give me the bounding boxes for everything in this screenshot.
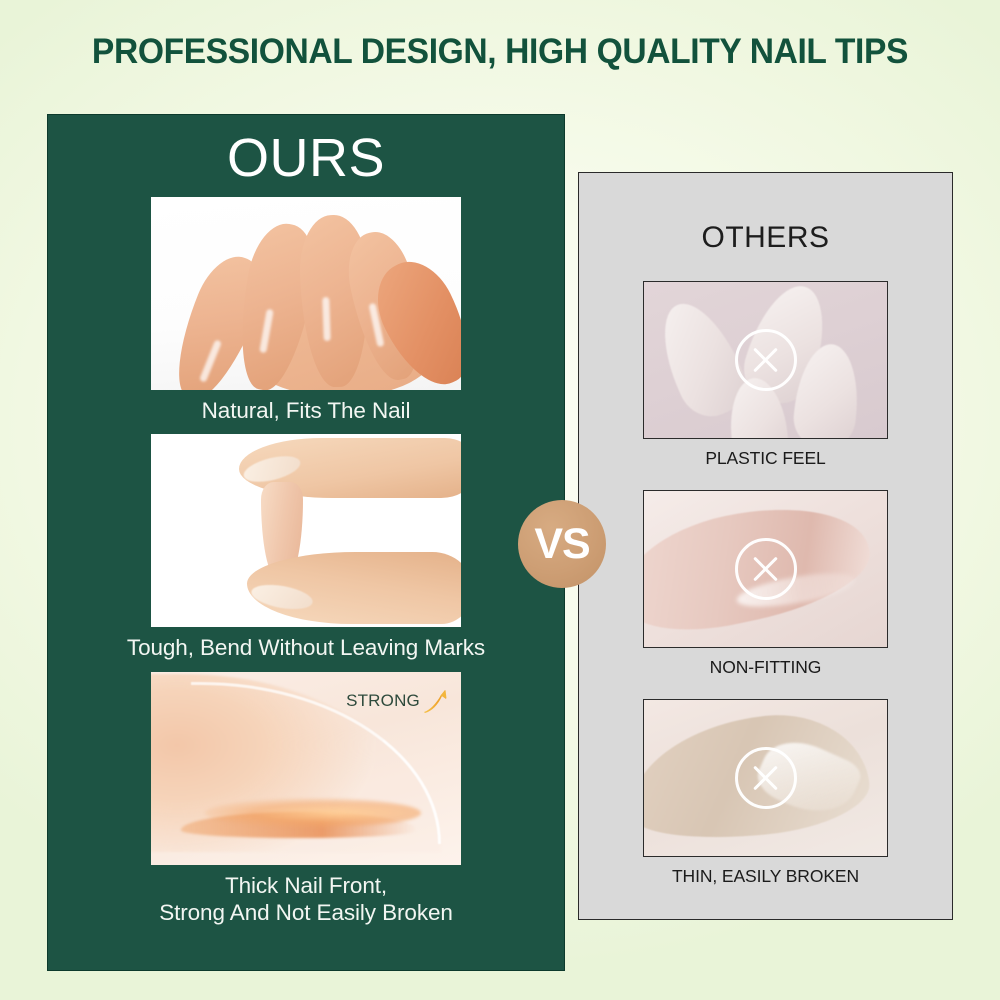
others-image-plastic-feel xyxy=(643,281,888,439)
others-item-list: PLASTIC FEEL NON-FITTING THIN, xyxy=(579,281,952,887)
ours-list-item: STRONG Thick N xyxy=(48,672,564,927)
ours-caption: Thick Nail Front, Strong And Not Easily … xyxy=(48,872,564,927)
ours-caption: Natural, Fits The Nail xyxy=(48,397,564,424)
x-circle-icon xyxy=(735,329,797,391)
others-image-non-fitting xyxy=(643,490,888,648)
ours-caption: Tough, Bend Without Leaving Marks xyxy=(48,634,564,661)
ours-heading: OURS xyxy=(48,127,564,189)
ours-list-item: Natural, Fits The Nail xyxy=(48,197,564,424)
x-circle-icon xyxy=(735,538,797,600)
strong-badge-label: STRONG xyxy=(346,691,420,711)
vs-label: VS xyxy=(534,520,589,569)
ours-list-item: Tough, Bend Without Leaving Marks xyxy=(48,434,564,661)
vs-badge: VS xyxy=(518,500,606,588)
others-list-item: THIN, EASILY BROKEN xyxy=(579,699,952,887)
others-caption: PLASTIC FEEL xyxy=(579,448,952,469)
ours-image-natural-fit xyxy=(151,197,461,390)
ours-panel: OURS Natural, Fits The Nail xyxy=(47,114,565,971)
bending-nail-illustration xyxy=(151,434,461,627)
ours-image-thick-front: STRONG xyxy=(151,672,461,865)
ours-image-bend-test xyxy=(151,434,461,627)
ours-caption-line-1: Thick Nail Front, xyxy=(225,873,387,898)
others-caption: THIN, EASILY BROKEN xyxy=(579,866,952,887)
ours-item-list: Natural, Fits The Nail Tough, Bend Witho… xyxy=(48,197,564,927)
ours-caption-line-2: Strong And Not Easily Broken xyxy=(48,899,564,926)
x-circle-icon xyxy=(735,747,797,809)
strong-badge: STRONG xyxy=(346,686,451,716)
others-panel: OTHERS PLASTIC FEEL xyxy=(578,172,953,920)
others-caption: NON-FITTING xyxy=(579,657,952,678)
others-heading: OTHERS xyxy=(579,221,952,255)
page-title: PROFESSIONAL DESIGN, HIGH QUALITY NAIL T… xyxy=(20,32,980,72)
others-list-item: PLASTIC FEEL xyxy=(579,281,952,469)
up-arrow-icon xyxy=(421,686,451,716)
others-image-thin-easily-broken xyxy=(643,699,888,857)
nail-gloss-highlight xyxy=(322,297,331,341)
hand-with-nails-illustration xyxy=(151,197,461,390)
others-list-item: NON-FITTING xyxy=(579,490,952,678)
